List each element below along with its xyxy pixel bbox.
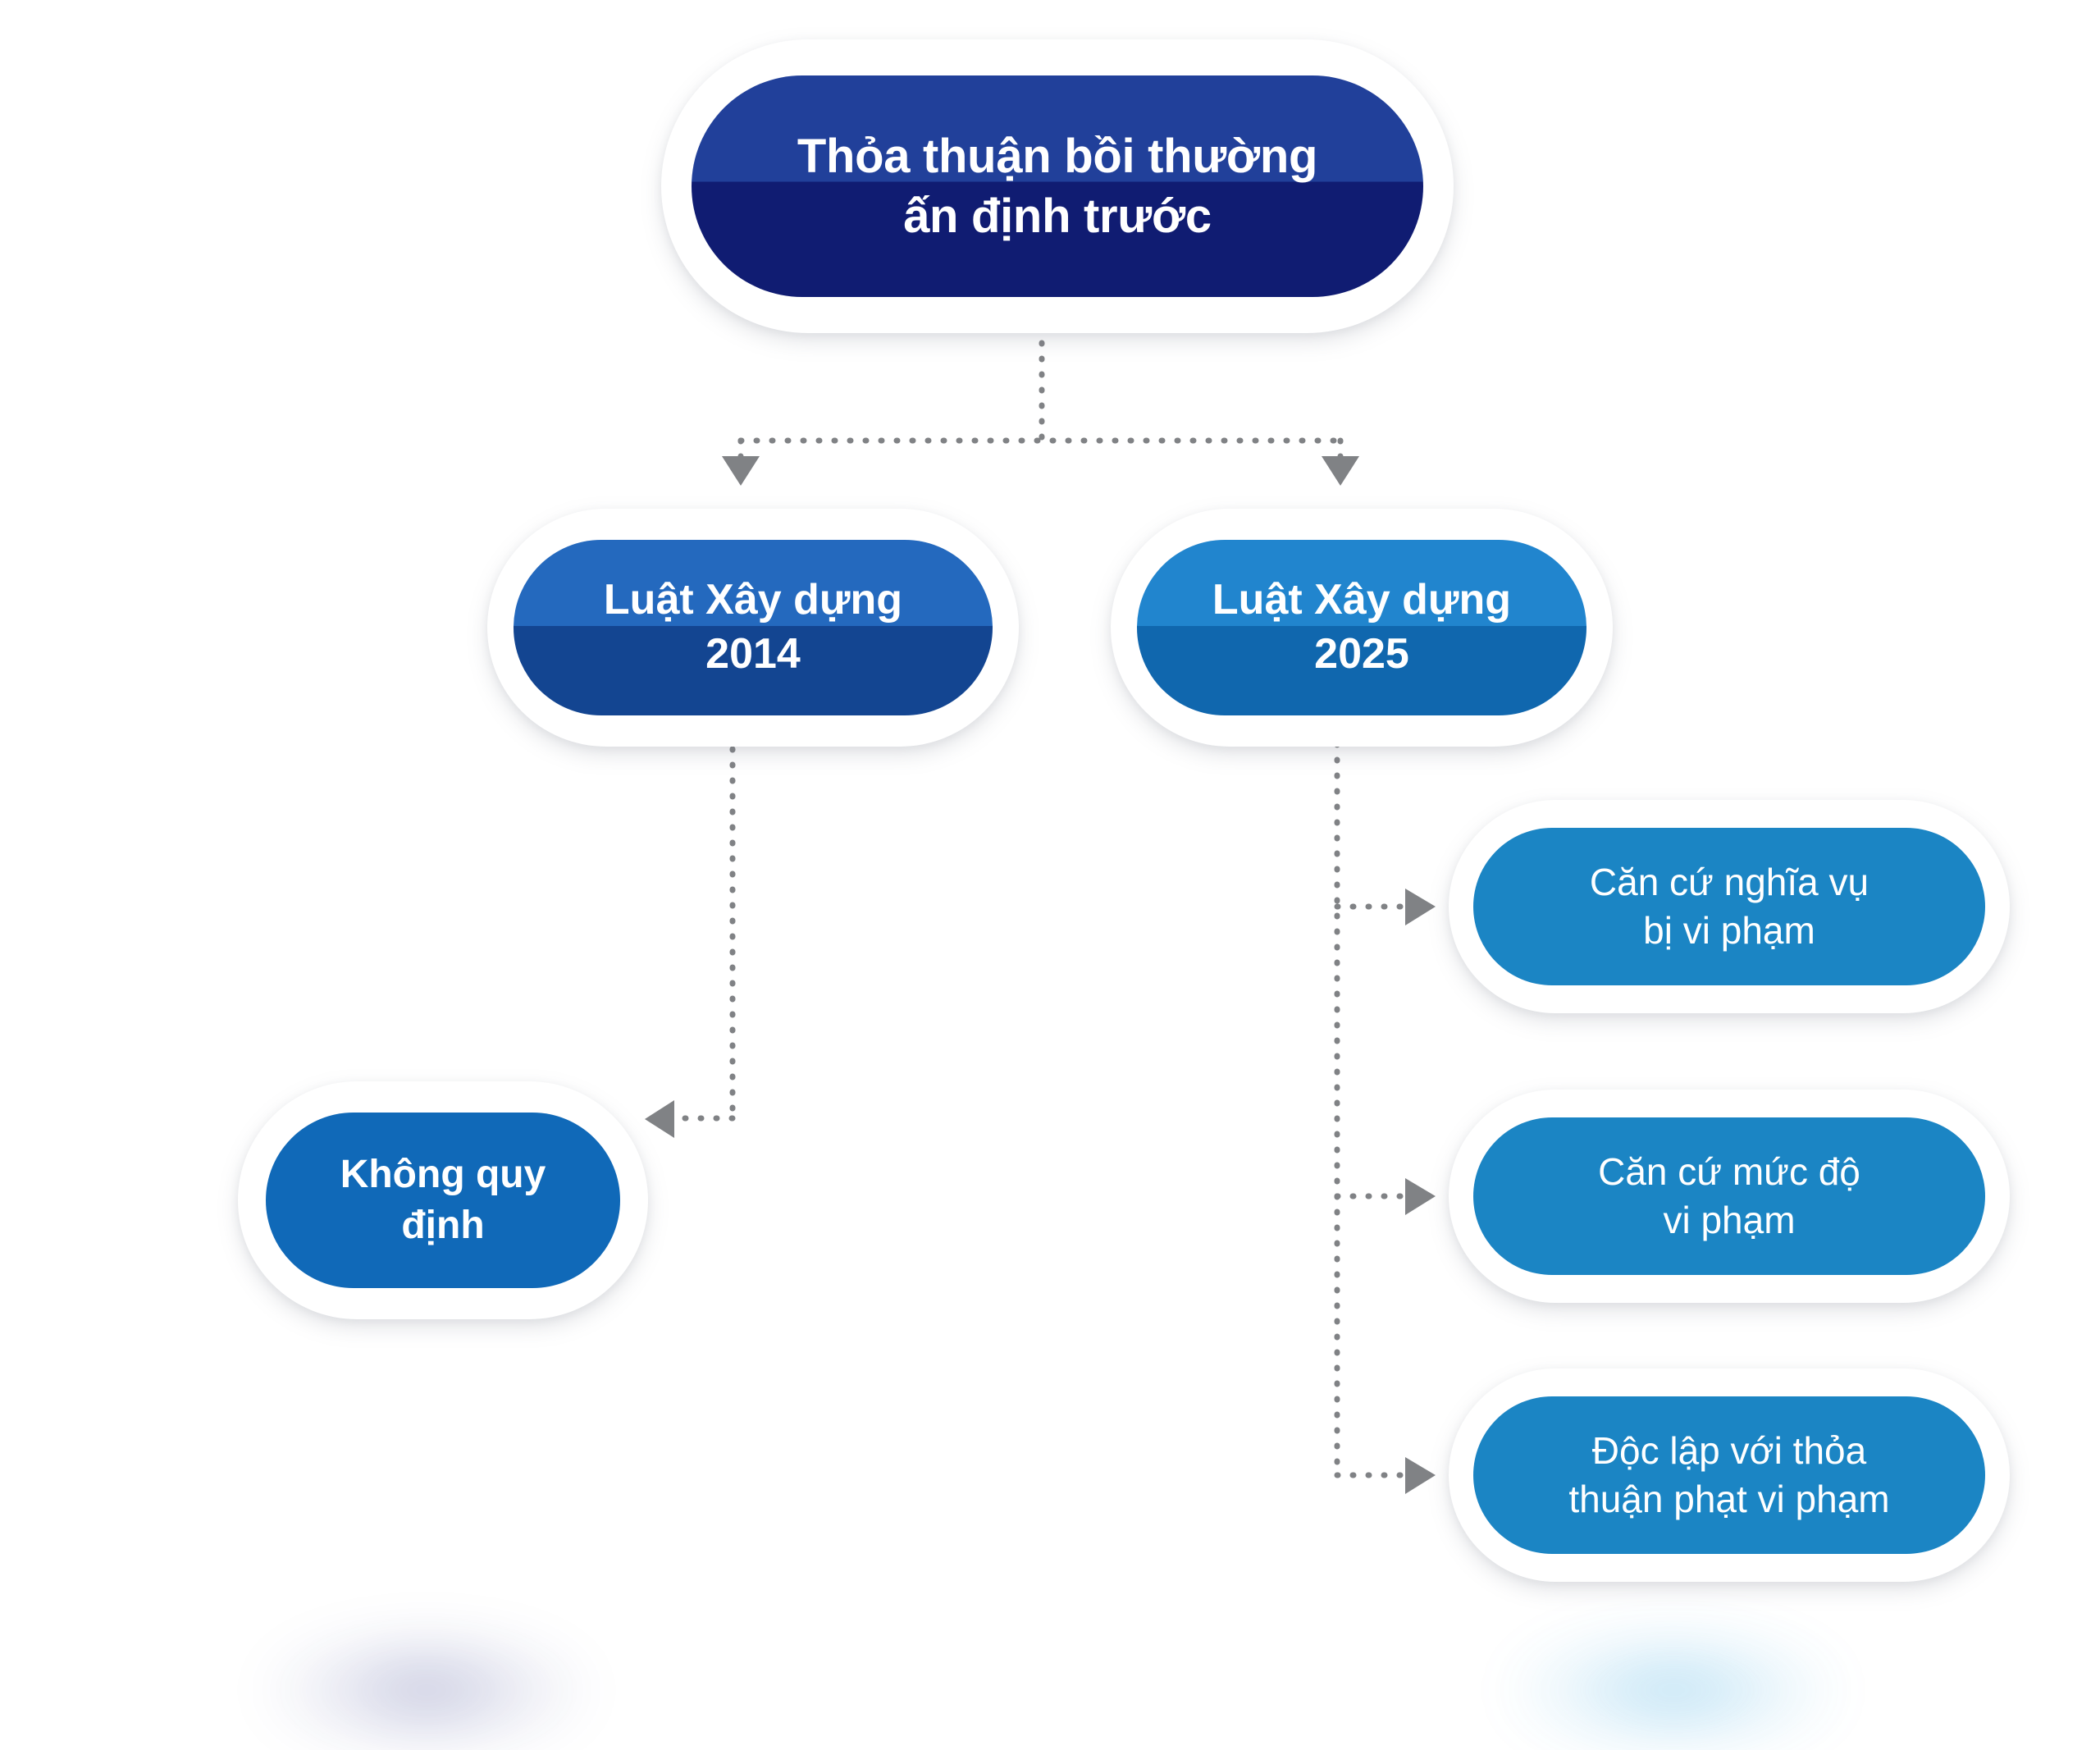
node-can-cu-muc-do-body: Căn cứ mức độ vi phạm — [1473, 1117, 1985, 1275]
node-can-cu-nghia-vu-body: Căn cứ nghĩa vụ bị vi phạm — [1473, 828, 1985, 985]
arrowhead-khong-quy-dinh — [645, 1100, 674, 1138]
arrowhead-law2025 — [1322, 456, 1359, 486]
node-doc-lap-voi-thoa-thuan-phat-label: Độc lập với thỏa thuận phạt vi phạm — [1473, 1427, 1985, 1524]
node-law-2014[interactable]: Luật Xây dựng 2014 — [487, 509, 1019, 747]
flowchart-canvas: Thỏa thuận bồi thường ấn định trước Luật… — [0, 0, 2100, 1750]
arrowhead-leaf3 — [1405, 1457, 1436, 1494]
node-law-2025[interactable]: Luật Xây dựng 2025 — [1111, 509, 1613, 747]
node-can-cu-nghia-vu-label: Căn cứ nghĩa vụ bị vi phạm — [1473, 858, 1985, 955]
node-can-cu-muc-do-label: Căn cứ mức độ vi phạm — [1473, 1148, 1985, 1245]
arrowhead-law2014 — [722, 456, 760, 486]
node-root-body: Thỏa thuận bồi thường ấn định trước — [692, 75, 1423, 297]
node-law-2025-label: Luật Xây dựng 2025 — [1137, 573, 1586, 681]
node-khong-quy-dinh-body: Không quy định — [266, 1113, 620, 1288]
node-root[interactable]: Thỏa thuận bồi thường ấn định trước — [661, 39, 1454, 333]
node-law-2014-body: Luật Xây dựng 2014 — [514, 540, 993, 715]
node-khong-quy-dinh[interactable]: Không quy định — [238, 1081, 648, 1319]
node-law-2025-body: Luật Xây dựng 2025 — [1137, 540, 1586, 715]
arrowhead-leaf2 — [1405, 1178, 1436, 1215]
node-law-2014-label: Luật Xây dựng 2014 — [514, 573, 993, 681]
node-root-label: Thỏa thuận bồi thường ấn định trước — [692, 126, 1423, 246]
node-khong-quy-dinh-label: Không quy định — [266, 1149, 620, 1252]
node-doc-lap-voi-thoa-thuan-phat-body: Độc lập với thỏa thuận phạt vi phạm — [1473, 1396, 1985, 1554]
arrowhead-leaf1 — [1405, 889, 1436, 925]
node-doc-lap-voi-thoa-thuan-phat[interactable]: Độc lập với thỏa thuận phạt vi phạm — [1449, 1368, 2010, 1582]
node-can-cu-muc-do[interactable]: Căn cứ mức độ vi phạm — [1449, 1090, 2010, 1303]
node-can-cu-nghia-vu[interactable]: Căn cứ nghĩa vụ bị vi phạm — [1449, 800, 2010, 1013]
